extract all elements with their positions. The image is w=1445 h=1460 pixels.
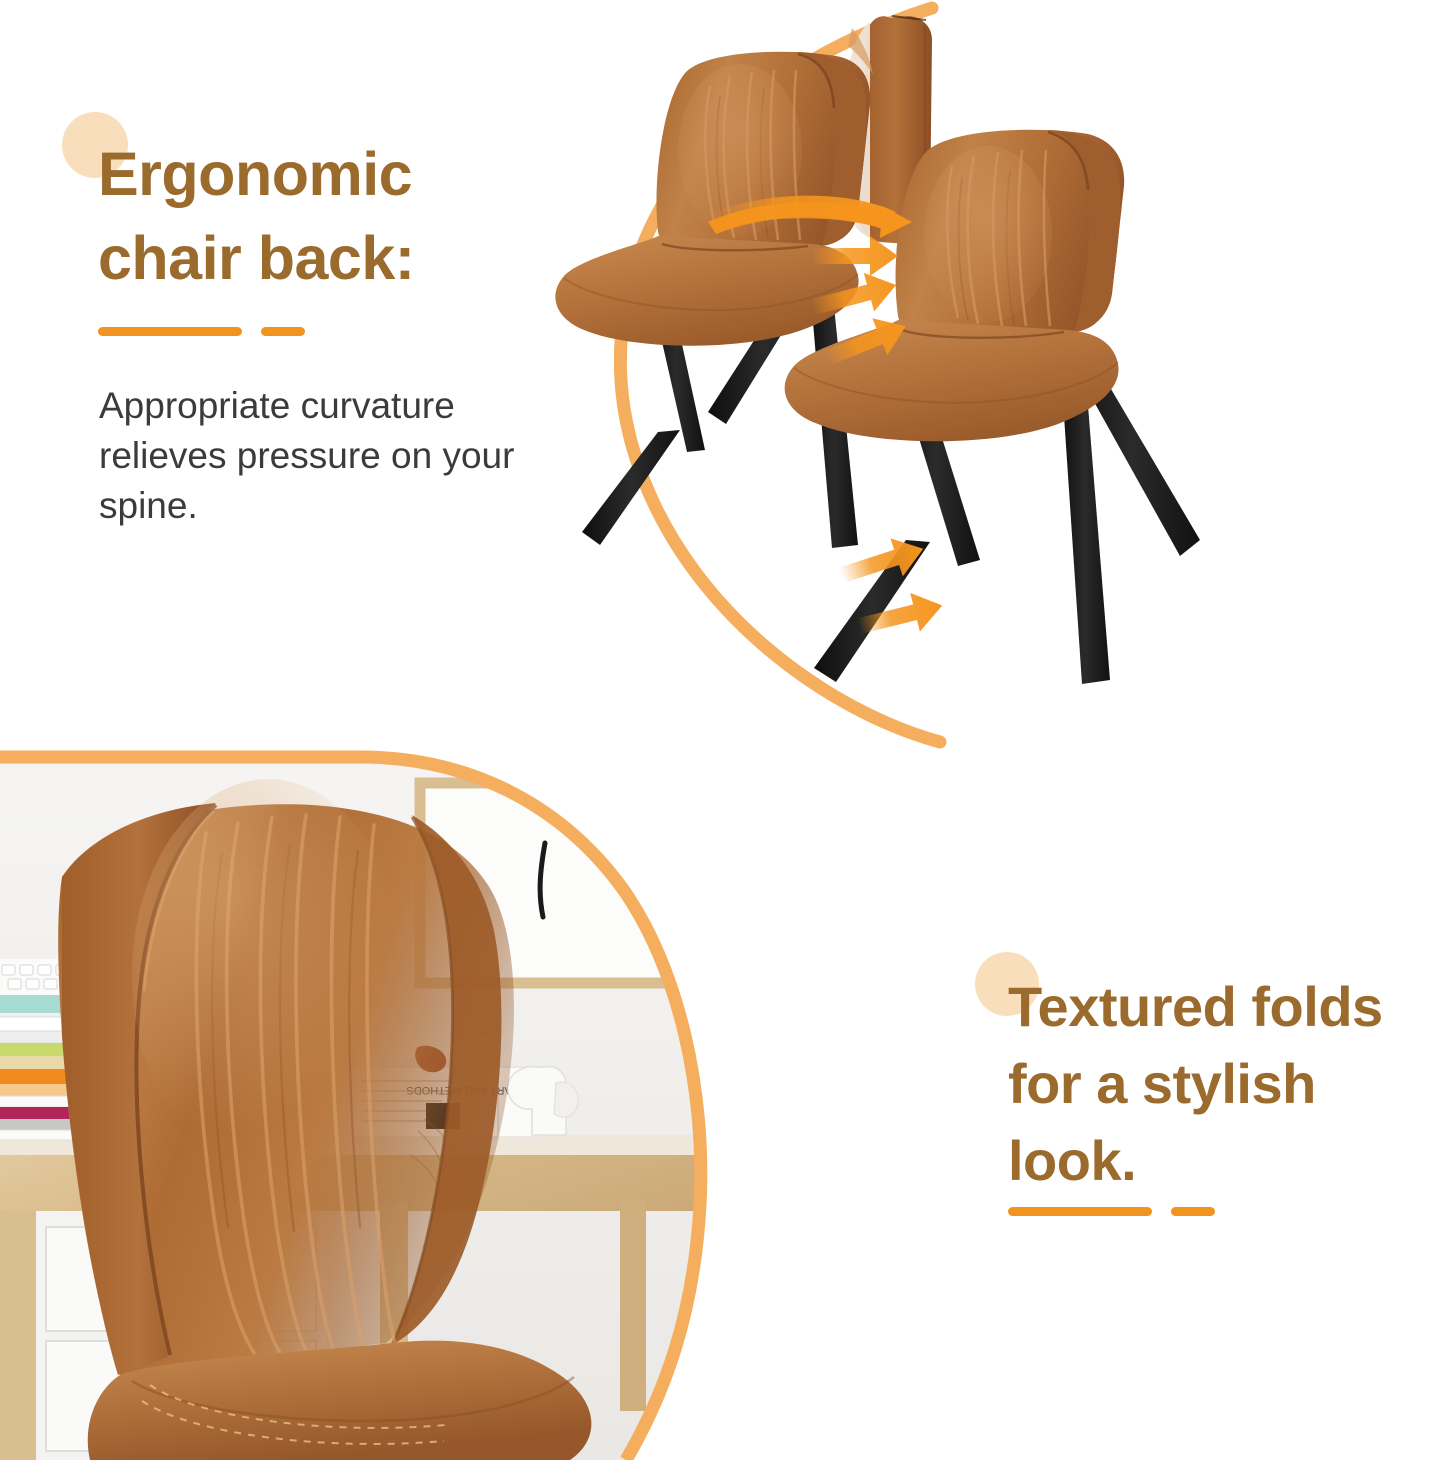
feature-headline-textured-folds: Textured folds for a stylish look. — [1008, 968, 1445, 1199]
desk-leg — [620, 1201, 646, 1411]
panel-bottom-left-lifestyle-photo: LOVE ART AND METHODS — [0, 735, 900, 1460]
panel-top-right-product-shot — [540, 0, 1445, 760]
divider-bar-long — [98, 327, 242, 336]
photo-content: LOVE ART AND METHODS — [0, 735, 900, 1460]
divider-bar-short — [261, 327, 305, 336]
feature-headline-ergonomic: Ergonomic chair back: — [98, 132, 578, 300]
lifestyle-photo-illustration: LOVE ART AND METHODS — [0, 735, 900, 1460]
divider-bar-long — [1008, 1207, 1152, 1216]
divider-bar-short — [1171, 1207, 1215, 1216]
divider-ergonomic — [98, 327, 305, 336]
feature-block-ergonomic-chair-back: Ergonomic chair back: Appropriate curvat… — [0, 0, 600, 740]
divider-textured-folds — [1008, 1207, 1215, 1216]
feature-body-ergonomic: Appropriate curvature relieves pressure … — [99, 381, 569, 531]
product-shot-illustration — [540, 0, 1445, 760]
